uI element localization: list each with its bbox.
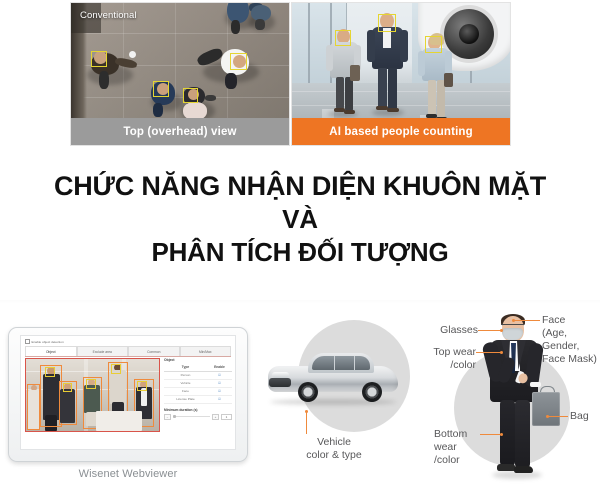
cell-type: Face — [164, 387, 207, 395]
column-header-type: Type — [164, 364, 207, 371]
face-detection-box — [153, 81, 169, 97]
page-title-line-2: VÀ — [0, 203, 600, 236]
object-type-table: Type Enable Person ☑ Vehicle ☑ — [164, 364, 232, 404]
cell-type: Person — [164, 371, 207, 379]
page-title-line-3: PHÂN TÍCH ĐỐI TƯỢNG — [0, 236, 600, 269]
tab-common-label: Common — [147, 350, 160, 354]
poster-stage: Conventional Top (overhead) view — [0, 0, 600, 498]
tab-exclude-area-label: Exclude area — [93, 350, 112, 354]
panel-conventional-overhead: Conventional Top (overhead) view — [70, 2, 290, 146]
page-title: CHỨC NĂNG NHẬN DIỆN KHUÔN MẶT VÀ PHÂN TÍ… — [0, 170, 600, 269]
slider-thumb[interactable] — [173, 415, 176, 419]
bag — [532, 392, 560, 426]
cell-enable-checkbox[interactable]: ☑ — [207, 395, 232, 403]
face-detection-box — [335, 30, 351, 46]
label-face: Face (Age, Gender, Face Mask) — [542, 314, 600, 366]
table-row[interactable]: Face ☑ — [164, 387, 232, 395]
cell-enable-checkbox[interactable]: ☑ — [207, 387, 232, 395]
tablet-caption: Wisenet Webviewer — [8, 468, 248, 480]
label-glasses: Glasses — [430, 324, 478, 337]
tab-exclude-area[interactable]: Exclude area — [77, 346, 129, 356]
vehicle-leader-dot — [305, 410, 308, 413]
label-top-wear-line-1: Top wear — [420, 346, 476, 359]
label-face-line-3: Face Mask) — [542, 353, 600, 366]
tab-min-max-label: Min/Max — [199, 350, 211, 354]
table-header-row: Type Enable — [164, 364, 232, 371]
face-detection-box — [230, 53, 247, 70]
cell-enable-checkbox[interactable]: ☑ — [207, 371, 232, 379]
vehicle-illustration — [268, 352, 398, 404]
person-attributes-feature: Glasses Face (Age, Gender, Face Mask) To… — [432, 306, 600, 498]
tab-object-label: Object — [46, 350, 56, 354]
table-row[interactable]: License Plate ☑ — [164, 395, 232, 403]
conventional-overlay-label: Conventional — [80, 10, 137, 21]
caption-top-overhead-view: Top (overhead) view — [71, 118, 289, 145]
label-glasses-text: Glasses — [440, 324, 478, 336]
face-detection-box — [378, 14, 396, 32]
vehicle-label: Vehicle color & type — [288, 436, 380, 462]
face-detection-box — [91, 51, 107, 67]
tab-object[interactable]: Object — [25, 346, 77, 356]
slider-track[interactable] — [173, 416, 210, 417]
vehicle-leader-line — [306, 412, 307, 434]
minimum-duration-control[interactable]: − + 1 — [164, 414, 232, 420]
tab-min-max[interactable]: Min/Max — [180, 346, 232, 356]
bottom-feature-band: Enable object detection Object Exclude a… — [0, 300, 600, 498]
minimum-duration-label: Minimum duration (s) — [164, 408, 232, 412]
object-settings-panel: Object Type Enable Person ☑ — [164, 358, 232, 420]
panel-ai-people-counting: AI based people counting — [291, 2, 511, 146]
tab-underline — [25, 356, 231, 357]
cell-type: License Plate — [164, 395, 207, 403]
increase-button[interactable]: + — [212, 414, 219, 420]
vehicle-label-line-2: color & type — [288, 449, 380, 462]
panel-title: Object — [164, 358, 232, 362]
column-header-enable: Enable — [207, 364, 232, 371]
checkbox-box — [25, 339, 30, 344]
tab-common[interactable]: Common — [128, 346, 180, 356]
duration-value[interactable]: 1 — [221, 414, 232, 420]
label-bottom-wear-line-2: wear — [434, 441, 480, 454]
lobby-scene: AI based people counting — [292, 3, 510, 145]
label-bag: Bag — [570, 410, 600, 423]
checkbox-label: Enable object detection — [32, 340, 64, 344]
label-bottom-wear-line-1: Bottom — [434, 428, 480, 441]
label-top-wear: Top wear /color — [420, 346, 476, 372]
label-bottom-wear-line-3: /color — [434, 454, 480, 467]
label-face-line-1: Face — [542, 314, 600, 327]
page-title-line-1: CHỨC NĂNG NHẬN DIỆN KHUÔN MẶT — [0, 170, 600, 203]
tablet-screen: Enable object detection Object Exclude a… — [20, 335, 236, 450]
table-row[interactable]: Vehicle ☑ — [164, 379, 232, 387]
cell-type: Vehicle — [164, 379, 207, 387]
webviewer-tabs: Object Exclude area Common Min/Max — [25, 346, 231, 356]
vehicle-label-line-1: Vehicle — [288, 436, 380, 449]
face-detection-box — [183, 88, 198, 103]
caption-ai-based-people-counting: AI based people counting — [292, 118, 510, 145]
cell-enable-checkbox[interactable]: ☑ — [207, 379, 232, 387]
tablet-device: Enable object detection Object Exclude a… — [8, 327, 248, 462]
enable-object-detection-checkbox[interactable]: Enable object detection — [25, 339, 64, 344]
face-mask — [502, 328, 523, 340]
top-comparison-row: Conventional Top (overhead) view — [0, 0, 600, 148]
label-bag-text: Bag — [570, 410, 589, 422]
face-detection-box — [425, 36, 442, 53]
decrease-button[interactable]: − — [164, 414, 171, 420]
overhead-scene: Conventional Top (overhead) view — [71, 3, 289, 145]
detection-preview[interactable] — [25, 358, 160, 432]
vehicle-feature: Vehicle color & type — [262, 316, 412, 446]
label-top-wear-line-2: /color — [420, 359, 476, 372]
table-row[interactable]: Person ☑ — [164, 371, 232, 379]
label-face-line-2: (Age, Gender, — [542, 327, 600, 353]
label-bottom-wear: Bottom wear /color — [434, 428, 480, 467]
